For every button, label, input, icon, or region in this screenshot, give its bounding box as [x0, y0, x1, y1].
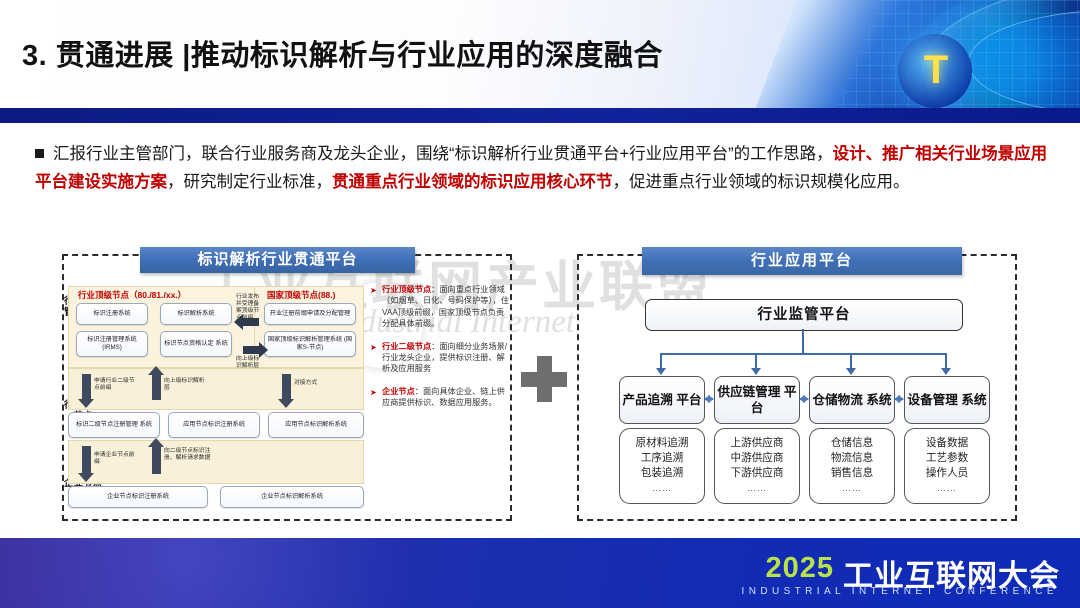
arrow-up-enterprise-request: [152, 446, 161, 474]
note-title-1: 行业顶级节点: [382, 285, 431, 294]
plus-connector-icon: [521, 356, 567, 402]
node-box-identifier-registration[interactable]: 标识注册系统: [76, 303, 148, 325]
arrow-label-a2: 向上级标识解析层: [164, 378, 206, 392]
node-box-enterprise-resolution[interactable]: 企业节点标识解析系统: [220, 486, 364, 508]
arrow-right-upper-resolution: [243, 346, 259, 354]
bullet-text-highlight2: 贯通重点行业领域的标识应用核心环节: [332, 173, 613, 191]
detail-item: 工艺参数: [926, 451, 968, 466]
arrow-down-tier2-interface: [282, 374, 291, 400]
detail-box-equipment-management[interactable]: 设备数据 工艺参数 操作人员 ……: [904, 428, 990, 504]
group-title-industry-top: 行业顶级节点（80./81./xx.）: [78, 289, 186, 301]
tree-arrowhead-4: [941, 368, 951, 375]
page-header: T 3. 贯通进展 |推动标识解析与行业应用的深度融合: [0, 0, 1080, 123]
detail-item: 仓储信息: [831, 436, 873, 451]
detail-item: 包装追溯: [641, 466, 683, 481]
node-box-prefix-application[interactable]: 开业注册前缀申请及分配管理: [264, 303, 356, 325]
node-box-tier2-registry-mgmt[interactable]: 标识二级节点注册管理 系统: [68, 412, 160, 438]
tree-drop-line-3: [850, 353, 852, 369]
arrow-label-mid-left: 行业发布并受理备案顶级节点前缀: [236, 294, 264, 322]
detail-item: 工序追溯: [641, 451, 683, 466]
module-box-warehouse-logistics[interactable]: 仓储物流 系统: [809, 376, 895, 424]
bullet-text-part3: ，促进重点行业领域的标识规模化应用。: [613, 173, 910, 191]
group-title-national-top: 国家顶级节点(88.): [267, 289, 335, 301]
header-logo-letter-icon: T: [916, 44, 956, 96]
arrow-label-a1: 申请行业二级节点前缀: [94, 378, 140, 392]
note-bullet-icon-1: ➤: [370, 285, 377, 296]
detail-item: 中游供应商: [731, 451, 784, 466]
arrow-label-a4: 申请企业节点前缀: [94, 452, 140, 466]
module-connector-1-2: [705, 395, 713, 402]
page-title: 3. 贯通进展 |推动标识解析与行业应用的深度融合: [22, 32, 663, 74]
left-panel-notes: ➤行业顶级节点：面向重点行业领域（如烟草、日化、号码保护等），住VAA顶级前缀，…: [370, 284, 512, 420]
note-title-2: 行业二级节点: [382, 342, 431, 351]
bullet-text-part2: ，研究制定行业标准，: [167, 173, 332, 191]
module-box-product-traceability[interactable]: 产品追溯 平台: [619, 376, 705, 424]
node-box-national-resolution-system[interactable]: 国家顶级标识解析管理系统 (国家S-节点): [264, 331, 356, 357]
detail-item: 上游供应商: [731, 436, 784, 451]
node-box-irms[interactable]: 标识注册管理系统 (IRMS): [76, 331, 148, 357]
tree-arrowhead-1: [656, 368, 666, 375]
module-box-equipment-management[interactable]: 设备管理 系统: [904, 376, 990, 424]
detail-item: 原材料追溯: [636, 436, 689, 451]
module-box-supply-chain[interactable]: 供应链管理 平台: [714, 376, 800, 424]
right-panel-header: 行业应用平台: [642, 247, 962, 275]
tree-arrowhead-2: [751, 368, 761, 375]
header-accent-bar: [0, 108, 1080, 123]
footer-year: 2025: [765, 552, 834, 585]
arrow-down-enterprise-prefix: [82, 446, 91, 474]
note-bullet-icon-2: ➤: [370, 342, 377, 353]
note-industry-top-node: ➤行业顶级节点：面向重点行业领域（如烟草、日化、号码保护等），住VAA顶级前缀，…: [370, 284, 512, 330]
module-connector-2-3: [800, 395, 808, 402]
node-box-app-node-registration[interactable]: 应用节点标识注册系统: [168, 412, 260, 438]
note-title-3: 企业节点: [382, 387, 415, 396]
module-connector-3-4: [895, 395, 903, 402]
detail-box-supply-chain[interactable]: 上游供应商 中游供应商 下游供应商 ……: [714, 428, 800, 504]
bullet-text-part1: 汇报行业主管部门，联合行业服务商及龙头企业，围绕“标识解析行业贯通平台+行业应用…: [53, 145, 833, 163]
bullet-square-icon: [35, 149, 44, 158]
node-box-identifier-resolution[interactable]: 标识解析系统: [160, 303, 232, 325]
detail-ellipsis: ……: [842, 481, 862, 496]
industry-regulation-platform-box[interactable]: 行业监管平台: [645, 299, 963, 331]
note-bullet-icon-3: ➤: [370, 387, 377, 398]
tree-drop-line-1: [660, 353, 662, 369]
detail-ellipsis: ……: [937, 481, 957, 496]
detail-item: 物流信息: [831, 451, 873, 466]
detail-item: 销售信息: [831, 466, 873, 481]
node-box-app-node-resolution[interactable]: 应用节点标识解析系统: [268, 412, 364, 438]
detail-box-product-traceability[interactable]: 原材料追溯 工序追溯 包装追溯 ……: [619, 428, 705, 504]
detail-item: 设备数据: [926, 436, 968, 451]
note-enterprise-node: ➤企业节点：面向具体企业、链上供应商提供标识、数据应用服务。: [370, 386, 512, 409]
note-secondary-node: ➤行业二级节点：面向细分业务场景/行业龙头企业，提供标识注册、解析及应用服务: [370, 341, 512, 375]
arrow-down-tier2-prefix: [82, 374, 91, 400]
tree-drop-line-4: [945, 353, 947, 369]
tree-arrowhead-3: [846, 368, 856, 375]
tree-branch-line: [660, 353, 946, 355]
tree-trunk-line: [802, 329, 804, 353]
detail-item: 下游供应商: [731, 466, 784, 481]
node-box-node-qualification[interactable]: 标识节点资格认定 系统: [160, 331, 232, 357]
arrow-label-a3: 对接方式: [294, 380, 336, 387]
arrow-up-tier2-resolution: [152, 374, 161, 400]
bullet-paragraph: 汇报行业主管部门，联合行业服务商及龙头企业，围绕“标识解析行业贯通平台+行业应用…: [35, 140, 1050, 196]
detail-ellipsis: ……: [652, 481, 672, 496]
left-panel-header: 标识解析行业贯通平台: [140, 247, 415, 273]
detail-box-warehouse-logistics[interactable]: 仓储信息 物流信息 销售信息 ……: [809, 428, 895, 504]
detail-ellipsis: ……: [747, 481, 767, 496]
page-footer: 2025 工业互联网大会 INDUSTRIAL INTERNET CONFERE…: [0, 538, 1080, 608]
arrow-label-a5: 向二级节点标识注册、解析请求数据: [164, 448, 220, 462]
diagram-area: 工业互联网产业联盟 Alliance of Industrial Interne…: [0, 232, 1080, 538]
tree-drop-line-2: [755, 353, 757, 369]
detail-item: 操作人员: [926, 466, 968, 481]
node-box-enterprise-registration[interactable]: 企业节点标识注册系统: [68, 486, 208, 508]
footer-conference-name-en: INDUSTRIAL INTERNET CONFERENCE: [742, 586, 1058, 597]
